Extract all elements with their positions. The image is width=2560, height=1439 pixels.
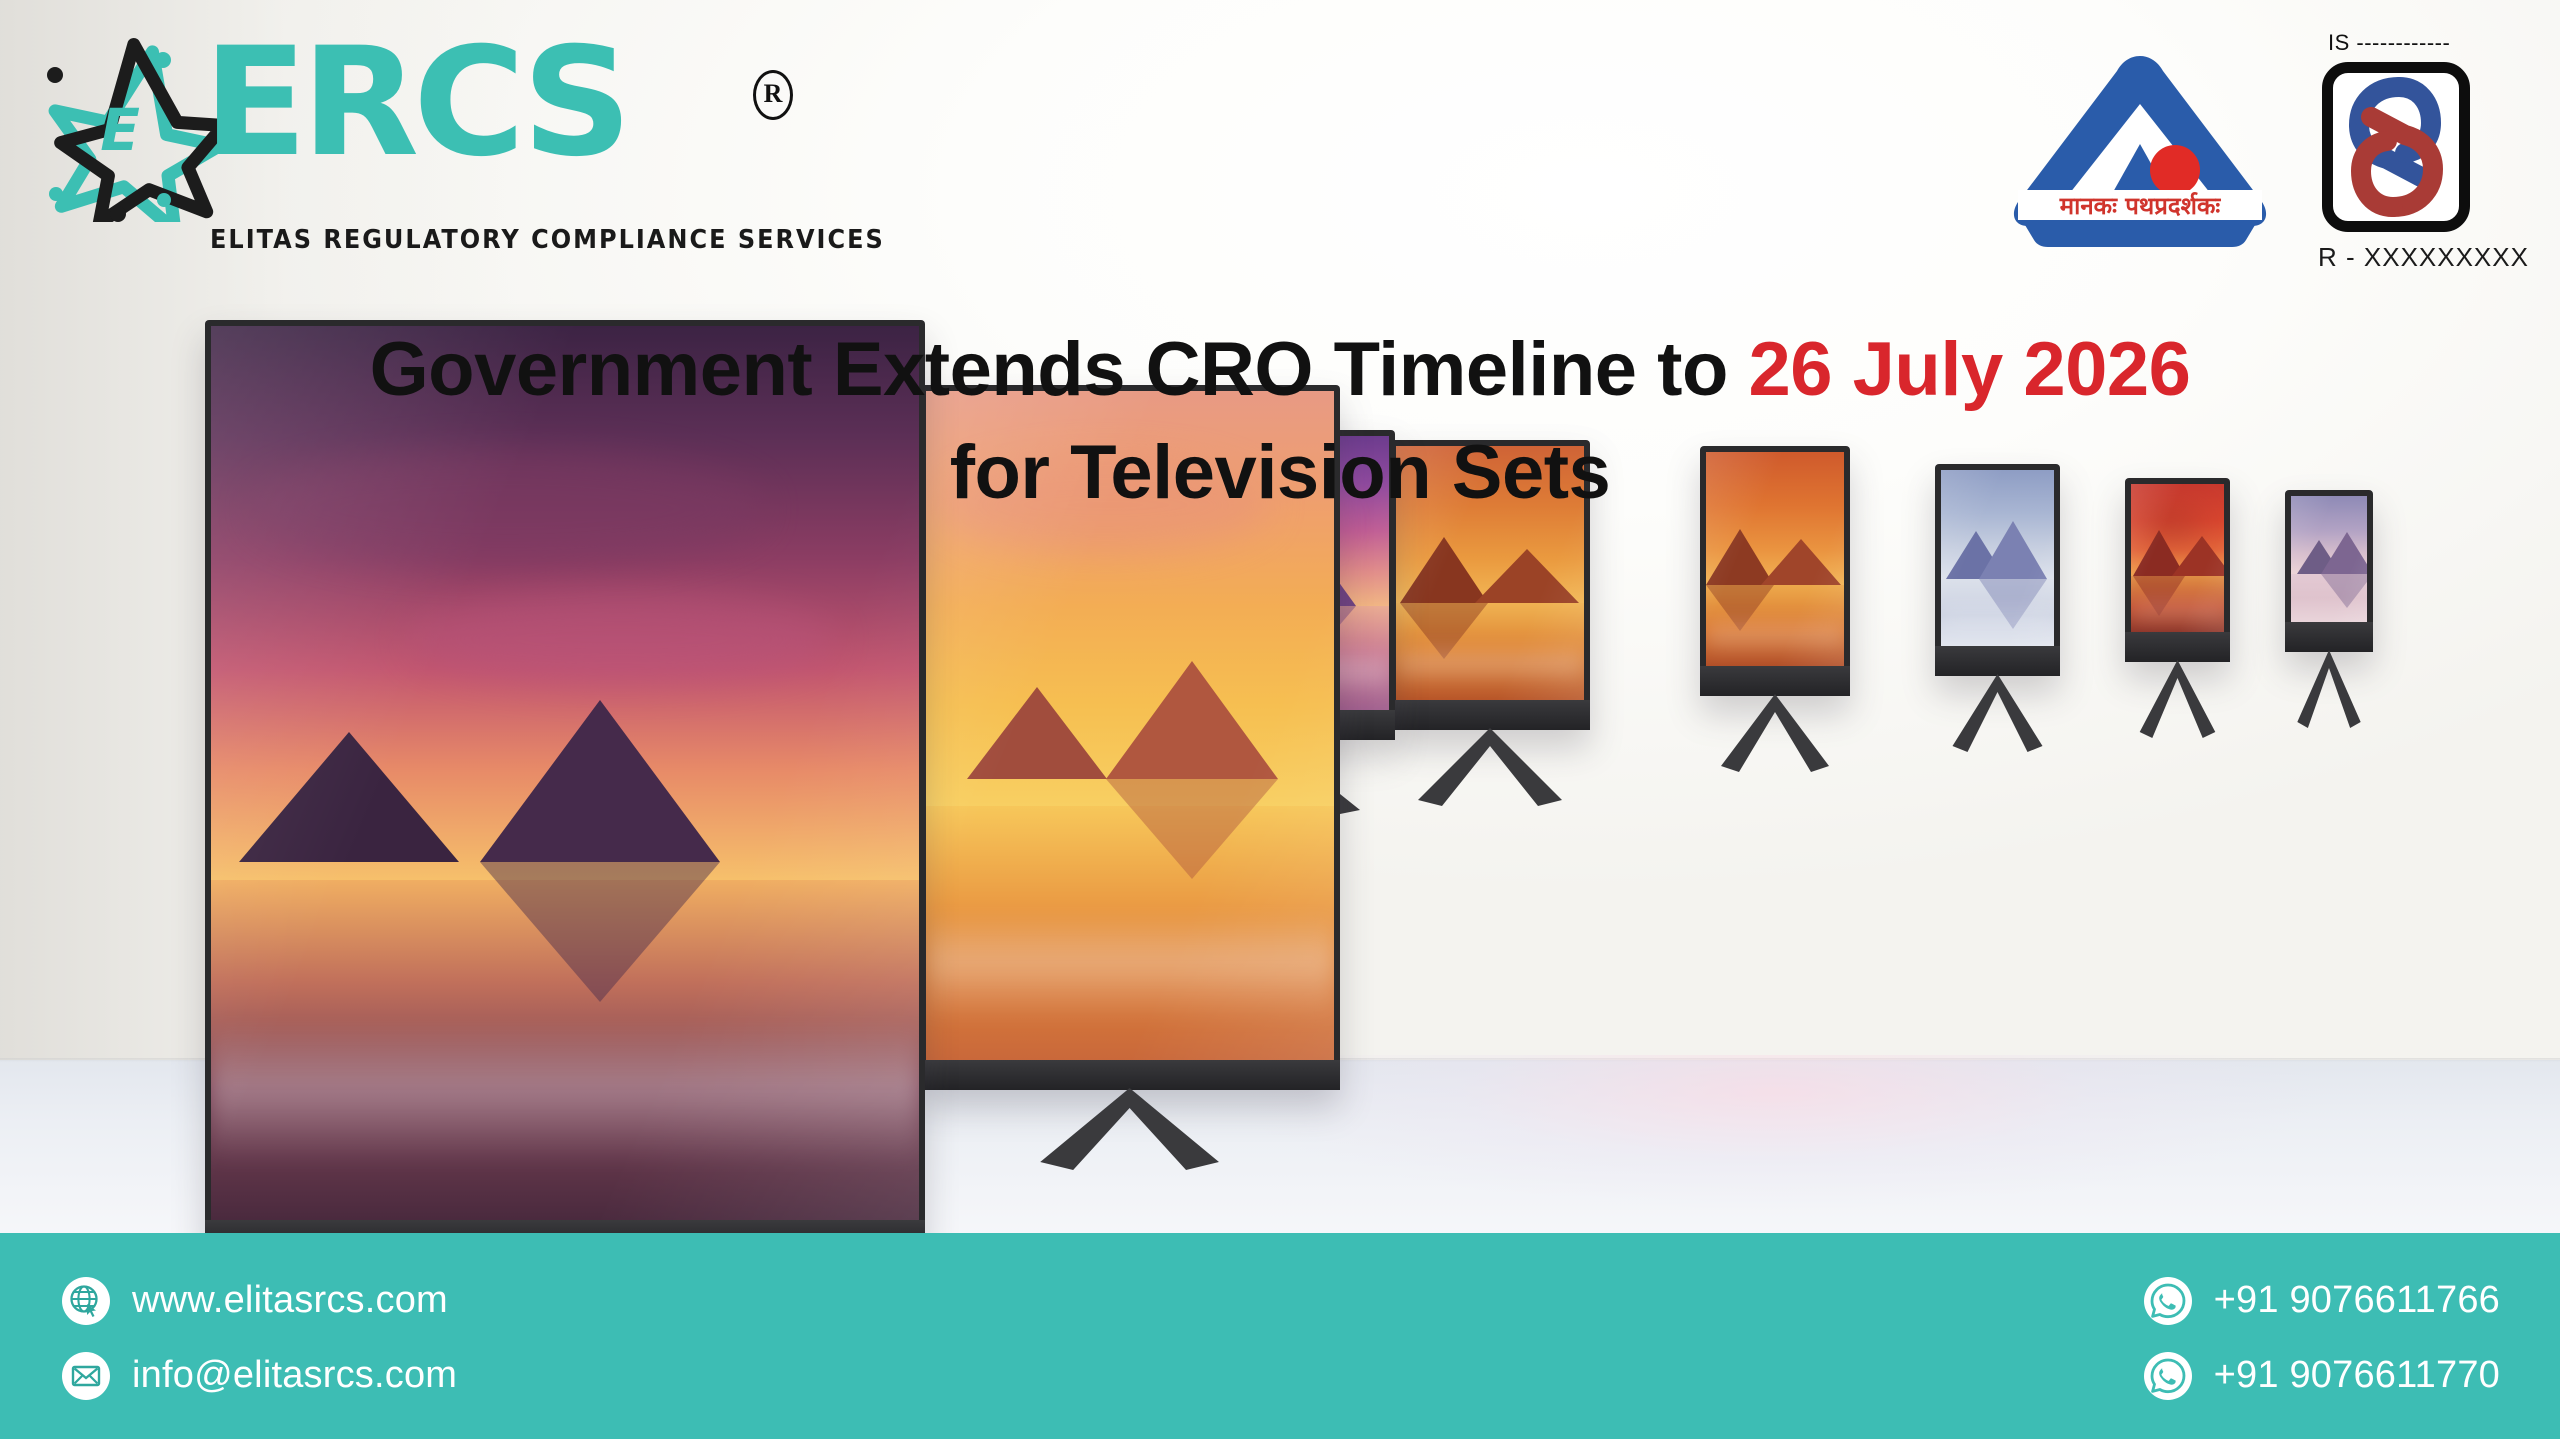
footer-email-row[interactable]: info@elitasrcs.com [62,1338,457,1413]
footer-website-row[interactable]: www.elitasrcs.com [62,1263,457,1338]
whatsapp-number-1: +91 9076611766 [2214,1279,2500,1322]
footer-right-contacts: +91 9076611766 +91 9076611770 [2144,1263,2500,1413]
whatsapp-icon [2144,1352,2192,1400]
ercs-tagline: ELITAS REGULATORY COMPLIANCE SERVICES [210,224,885,254]
television-4-stand [1700,694,1850,784]
isi-bis-standard-mark-icon: मानकः पथप्रदर्शकः [2000,40,2280,250]
television-1b-stand [1012,1088,1247,1178]
crs-double-loop-glyph [2333,73,2459,221]
page-title: Government Extends CRO Timeline to 26 Ju… [0,318,2560,525]
footer-whatsapp-row-2[interactable]: +91 9076611770 [2144,1338,2500,1413]
television-6-stand [2125,660,2230,750]
website-label: www.elitasrcs.com [132,1279,448,1322]
star-burst-icon: E [38,22,228,222]
headline-prefix: Government Extends CRO Timeline to [370,327,1749,412]
isi-motto: मानकः पथप्रदर्शकः [2059,192,2222,220]
headline-line-1: Government Extends CRO Timeline to 26 Ju… [0,318,2560,421]
svg-text:E: E [100,96,140,164]
bis-crs-standard-mark-icon: IS ------------ R - XXXXXXXXX [2310,30,2560,300]
email-label: info@elitasrcs.com [132,1354,457,1397]
crs-is-label: IS ------------ [2328,30,2450,56]
television-lineup [0,500,2560,1260]
television-5-stand [1935,674,2060,764]
headline-line-2: for Television Sets [0,421,2560,524]
ercs-logo[interactable]: E ERCS R ELITAS REGULATORY COMPLIANCE SE… [38,22,738,242]
poster-canvas: E ERCS R ELITAS REGULATORY COMPLIANCE SE… [0,0,2560,1439]
television-7-stand [2285,650,2373,740]
footer-left-contacts: www.elitasrcs.com info@elitasrcs.com [62,1263,457,1413]
whatsapp-icon [2144,1277,2192,1325]
envelope-icon [62,1352,110,1400]
footer-whatsapp-row-1[interactable]: +91 9076611766 [2144,1263,2500,1338]
crs-mark-box [2322,62,2470,232]
contact-footer: www.elitasrcs.com info@elitasrcs.com [0,1233,2560,1439]
svg-text:ERCS: ERCS [203,32,626,182]
television-3-stand [1390,728,1590,818]
crs-registration-number: R - XXXXXXXXX [2318,242,2529,273]
registered-trademark-icon: R [753,70,793,120]
ercs-wordmark: ERCS [203,32,723,182]
headline-deadline-date: 26 July 2026 [1749,327,2191,412]
globe-icon [62,1277,110,1325]
whatsapp-number-2: +91 9076611770 [2214,1354,2500,1397]
